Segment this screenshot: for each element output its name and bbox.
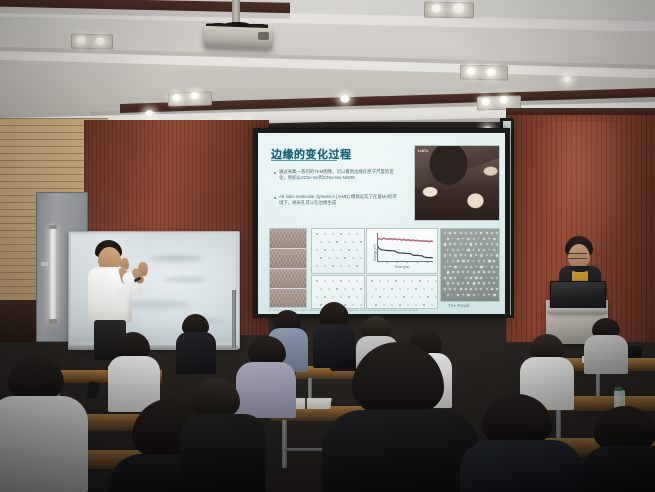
lattice-atom-dot (496, 288, 498, 290)
lattice-atom-dot (449, 243, 451, 245)
schematic-atom-dot (336, 241, 338, 243)
schematic-atom-dot (348, 265, 350, 267)
schematic-atom-dot (423, 304, 425, 306)
water-bottle-cap (615, 387, 622, 391)
schematic-atom-dot (332, 233, 334, 235)
schematic-atom-dot (340, 265, 342, 267)
schematic-atom-dot (316, 296, 318, 298)
schematic-atom-dot (360, 288, 362, 290)
lattice-atom-dot (475, 232, 477, 234)
lattice-atom-dot (447, 271, 449, 273)
downlight-2b (452, 3, 466, 14)
presentation-laptop-base[interactable] (547, 308, 608, 314)
lattice-atom-dot (475, 254, 477, 256)
lattice-atom-dot (491, 277, 493, 279)
lattice-atom-dot (496, 277, 498, 279)
energy-time-chart: Time (ps) Energy (eV) (366, 228, 438, 274)
lattice-atom-dot (499, 271, 500, 273)
strip-cell-1 (270, 229, 306, 249)
chart-tick (427, 261, 428, 263)
tem-time-label: t=87s (418, 148, 428, 153)
schematic-atom-dot (383, 288, 385, 290)
lattice-atom-dot (467, 294, 469, 296)
lattice-atom-dot (462, 238, 464, 240)
lattice-atom-dot (462, 249, 464, 251)
schematic-atom-dot (387, 280, 389, 282)
schematic-atom-dot (391, 288, 393, 290)
schematic-atom-dot (352, 241, 354, 243)
wall-tube-light (50, 228, 56, 320)
lattice-atom-dot (470, 254, 472, 256)
lattice-atom-dot (465, 288, 467, 290)
lattice-atom-dot (473, 271, 475, 273)
desk-leg (282, 420, 287, 468)
bullet-dot-icon (274, 197, 276, 199)
audience-torso (460, 440, 582, 492)
lattice-atom-dot (486, 288, 488, 290)
lattice-atom-dot (496, 266, 498, 268)
schematic-atom-dot (316, 265, 318, 267)
atomic-structure-panel-c (366, 275, 438, 309)
lattice-atom-dot (488, 282, 490, 284)
slide-bullet-1: 通过采集一系列的TEM图像，可以看到边缘在原子尺度的变化，例如从ZZSe-Se到… (274, 169, 399, 181)
schematic-atom-dot (328, 257, 330, 259)
audience-member-foreground (586, 406, 655, 492)
lattice-atom-dot (473, 260, 475, 262)
lattice-atom-dot (467, 260, 469, 262)
lattice-atom-dot (491, 232, 493, 234)
lattice-atom-dot (460, 243, 462, 245)
schematic-atom-dot (356, 265, 358, 267)
schematic-atom-dot (371, 296, 373, 298)
lattice-atom-dot (452, 282, 454, 284)
schematic-atom-dot (411, 296, 413, 298)
schematic-atom-dot (316, 280, 318, 282)
schematic-atom-dot (332, 280, 334, 282)
lattice-atom-dot (447, 260, 449, 262)
audience-hair (482, 394, 552, 446)
audience-member-foreground (186, 378, 256, 492)
lattice-atom-dot (449, 277, 451, 279)
lattice-atom-dot (465, 266, 467, 268)
schematic-atom-dot (352, 257, 354, 259)
lattice-atom-dot (457, 238, 459, 240)
schematic-atom-dot (320, 241, 322, 243)
schematic-atom-dot (379, 296, 381, 298)
schematic-atom-dot (356, 233, 358, 235)
schematic-atom-dot (435, 296, 437, 298)
downlight-4a (172, 94, 182, 102)
lattice-atom-dot (447, 294, 449, 296)
schematic-atom-dot (348, 280, 350, 282)
lattice-atom-dot (457, 282, 459, 284)
schematic-atom-dot (383, 304, 385, 306)
lattice-atom-dot (454, 277, 456, 279)
downlight-8 (563, 76, 572, 83)
lattice-atom-dot (478, 249, 480, 251)
schematic-atom-dot (427, 296, 429, 298)
lattice-atom-dot (462, 294, 464, 296)
schematic-atom-dot (399, 288, 401, 290)
lattice-atom-dot (467, 282, 469, 284)
door-handle[interactable] (41, 262, 48, 266)
lattice-atom-dot (483, 238, 485, 240)
audience-member-foreground (330, 342, 464, 492)
lattice-atom-dot (483, 271, 485, 273)
audience-torso (176, 332, 216, 374)
schematic-atom-dot (395, 296, 397, 298)
chart-tick (407, 261, 408, 263)
lattice-atom-dot (452, 238, 454, 240)
schematic-atom-dot (348, 296, 350, 298)
schematic-atom-dot (344, 288, 346, 290)
schematic-atom-dot (375, 288, 377, 290)
schematic-atom-dot (360, 257, 362, 259)
schematic-atom-dot (324, 280, 326, 282)
lattice-atom-dot (478, 238, 480, 240)
chart-y-axis-label: Energy (eV) (373, 244, 377, 261)
lattice-atom-dot (452, 294, 454, 296)
lattice-atom-dot (467, 249, 469, 251)
lattice-atom-dot (457, 294, 459, 296)
audience-member (584, 318, 628, 374)
schematic-atom-dot (332, 296, 334, 298)
chart-svg (377, 233, 433, 261)
publisher-logo: The Royal (448, 303, 470, 308)
lattice-atom-dot (478, 271, 480, 273)
lattice-atom-dot (457, 260, 459, 262)
lattice-atom-dot (470, 243, 472, 245)
schematic-atom-dot (395, 280, 397, 282)
audience-member-foreground (0, 356, 88, 492)
lattice-atom-dot (493, 260, 495, 262)
tube-light-cap-top (49, 225, 57, 229)
lattice-atom-dot (480, 266, 482, 268)
lattice-atom-dot (444, 288, 446, 290)
bullet-text-2: Ab initio molecular dynamics (AIMD) 模拟证实… (279, 194, 399, 206)
schematic-atom-dot (320, 257, 322, 259)
schematic-atom-dot (399, 304, 401, 306)
schematic-atom-dot (328, 241, 330, 243)
operator-glasses (567, 253, 587, 259)
lattice-atom-dot (465, 277, 467, 279)
tube-light-cap-bottom (49, 319, 57, 324)
lattice-atom-dot (496, 232, 498, 234)
lattice-atom-dot (449, 288, 451, 290)
lattice-atom-dot (465, 232, 467, 234)
schematic-atom-dot (360, 304, 362, 306)
lattice-atom-dot (473, 282, 475, 284)
slide-title-underline (271, 160, 337, 161)
audience-member (176, 314, 216, 374)
lattice-atom-dot (499, 260, 500, 262)
lattice-atom-dot (491, 266, 493, 268)
lattice-atom-dot (444, 243, 446, 245)
schematic-atom-dot (415, 304, 417, 306)
schematic-atom-dot (419, 280, 421, 282)
schematic-atom-dot (316, 249, 318, 251)
schematic-atom-dot (340, 280, 342, 282)
lattice-atom-dot (499, 238, 500, 240)
lattice-atom-dot (486, 277, 488, 279)
lattice-atom-dot (493, 249, 495, 251)
schematic-atom-dot (348, 233, 350, 235)
lattice-atom-dot (467, 271, 469, 273)
lattice-atom-dot (488, 260, 490, 262)
lattice-atom-dot (457, 271, 459, 273)
schematic-atom-dot (344, 257, 346, 259)
schematic-atom-dot (316, 233, 318, 235)
schematic-atom-dot (340, 296, 342, 298)
schematic-atom-dot (336, 288, 338, 290)
lattice-atom-dot (449, 266, 451, 268)
lattice-atom-dot (454, 266, 456, 268)
lattice-atom-dot (473, 238, 475, 240)
tem-strip-panel (269, 228, 307, 308)
lattice-atom-dot (483, 294, 485, 296)
lattice-atom-dot (470, 232, 472, 234)
lattice-atom-dot (493, 238, 495, 240)
downlight-1a (76, 36, 87, 45)
chart-tick (417, 261, 418, 263)
strip-cell-2 (270, 249, 306, 269)
lattice-atom-dot (491, 288, 493, 290)
schematic-atom-dot (375, 304, 377, 306)
lattice-atom-dot (470, 266, 472, 268)
lattice-atom-dot (473, 294, 475, 296)
lattice-atom-dot (444, 266, 446, 268)
schematic-atom-dot (431, 288, 433, 290)
schematic-atom-dot (360, 241, 362, 243)
schematic-atom-dot (352, 288, 354, 290)
lattice-atom-dot (465, 254, 467, 256)
audience-torso (0, 396, 88, 492)
schematic-atom-dot (356, 296, 358, 298)
lattice-atom-dot (447, 238, 449, 240)
lattice-atom-dot (493, 282, 495, 284)
schematic-atom-dot (324, 265, 326, 267)
lattice-atom-dot (475, 243, 477, 245)
chart-y-axis (377, 233, 378, 261)
schematic-atom-dot (332, 265, 334, 267)
desk-leg (596, 370, 600, 398)
tem-micrograph-image: t=87s (414, 145, 500, 221)
lattice-atom-dot (480, 288, 482, 290)
lattice-atom-dot (478, 294, 480, 296)
bullet-dot-icon (274, 172, 276, 174)
chart-x-axis (377, 261, 433, 262)
lattice-atom-dot (444, 254, 446, 256)
schematic-atom-dot (391, 304, 393, 306)
audience-torso (322, 410, 480, 492)
schematic-atom-dot (324, 233, 326, 235)
lattice-atom-dot (449, 254, 451, 256)
atomic-lattice-image (440, 228, 500, 302)
lattice-atom-dot (452, 271, 454, 273)
lattice-atom-dot (444, 232, 446, 234)
slide-bullet-2: Ab initio molecular dynamics (AIMD) 模拟证实… (274, 194, 399, 206)
schematic-atom-dot (344, 241, 346, 243)
lattice-atom-dot (475, 266, 477, 268)
strip-cell-4 (270, 289, 306, 308)
chart-x-axis-label: Time (ps) (367, 265, 437, 269)
schematic-atom-dot (320, 288, 322, 290)
lattice-atom-dot (478, 260, 480, 262)
lattice-atom-dot (486, 232, 488, 234)
schematic-atom-dot (371, 280, 373, 282)
downlight-4b (190, 92, 200, 100)
schematic-atom-dot (324, 296, 326, 298)
schematic-atom-dot (332, 249, 334, 251)
lattice-atom-dot (488, 249, 490, 251)
lattice-atom-dot (457, 249, 459, 251)
schematic-atom-dot (423, 288, 425, 290)
downlight-5a (481, 98, 491, 106)
lattice-atom-dot (462, 282, 464, 284)
audience-torso (582, 446, 655, 492)
chart-tick (387, 261, 388, 263)
atomic-structure-panel-a (311, 228, 365, 274)
lattice-atom-dot (454, 243, 456, 245)
audience-torso (584, 335, 628, 374)
lattice-atom-dot (499, 282, 500, 284)
lattice-atom-dot (488, 238, 490, 240)
downlight-3a (466, 67, 477, 76)
lattice-atom-dot (496, 254, 498, 256)
whiteboard-smudge-2 (163, 277, 207, 282)
lattice-atom-dot (486, 266, 488, 268)
schematic-atom-dot (348, 249, 350, 251)
lattice-atom-dot (491, 243, 493, 245)
lattice-atom-dot (460, 232, 462, 234)
downlight-7 (145, 110, 154, 117)
lattice-atom-dot (452, 249, 454, 251)
schematic-atom-dot (419, 296, 421, 298)
lattice-atom-dot (454, 288, 456, 290)
lattice-atom-dot (475, 288, 477, 290)
lattice-atom-dot (483, 282, 485, 284)
lattice-atom-dot (465, 243, 467, 245)
downlight-5b (499, 96, 509, 104)
schematic-atom-dot (356, 280, 358, 282)
lattice-atom-dot (488, 294, 490, 296)
lattice-atom-dot (493, 271, 495, 273)
mobile-phone[interactable] (86, 381, 99, 399)
schematic-atom-dot (403, 296, 405, 298)
bullet-text-1: 通过采集一系列的TEM图像，可以看到边缘在原子尺度的变化，例如从ZZSe-Se到… (279, 169, 399, 181)
lattice-atom-dot (499, 294, 500, 296)
audience-torso (180, 414, 266, 492)
audience-hair (352, 342, 444, 416)
downlight-2a (431, 4, 443, 13)
lattice-atom-dot (499, 249, 500, 251)
lattice-atom-dot (480, 243, 482, 245)
chart-plot-area (377, 233, 433, 261)
lattice-atom-dot (460, 288, 462, 290)
lattice-atom-dot (486, 254, 488, 256)
projector-lens (258, 32, 269, 40)
schematic-atom-dot (379, 280, 381, 282)
lecture-room-photo: 边缘的变化过程 通过采集一系列的TEM图像，可以看到边缘在原子尺度的变化，例如从… (0, 0, 655, 492)
schematic-atom-dot (411, 280, 413, 282)
schematic-atom-dot (387, 296, 389, 298)
lattice-atom-dot (462, 271, 464, 273)
lattice-atom-dot (449, 232, 451, 234)
lattice-atom-dot (488, 271, 490, 273)
lattice-atom-dot (491, 254, 493, 256)
schematic-atom-dot (403, 280, 405, 282)
lattice-atom-dot (447, 249, 449, 251)
right-wall-top-trim (506, 108, 655, 115)
schematic-atom-dot (328, 288, 330, 290)
lattice-atom-dot (493, 294, 495, 296)
audience-hair (8, 356, 64, 400)
lattice-atom-dot (470, 277, 472, 279)
lattice-atom-dot (483, 260, 485, 262)
lattice-atom-dot (454, 254, 456, 256)
lattice-atom-dot (447, 282, 449, 284)
lattice-atom-dot (470, 288, 472, 290)
lattice-atom-dot (496, 243, 498, 245)
lattice-atom-dot (473, 249, 475, 251)
lattice-atom-dot (462, 260, 464, 262)
chart-tick (397, 261, 398, 263)
lattice-atom-dot (475, 277, 477, 279)
schematic-atom-dot (435, 280, 437, 282)
schematic-atom-dot (356, 249, 358, 251)
lattice-atom-dot (478, 282, 480, 284)
lattice-atom-dot (480, 254, 482, 256)
schematic-atom-dot (407, 288, 409, 290)
downlight-6 (340, 95, 350, 103)
lattice-atom-dot (486, 243, 488, 245)
slide-content: 边缘的变化过程 通过采集一系列的TEM图像，可以看到边缘在原子尺度的变化，例如从… (258, 133, 505, 314)
downlight-3b (486, 68, 497, 77)
schematic-atom-dot (427, 280, 429, 282)
audience-hair (192, 378, 240, 418)
lattice-atom-dot (444, 277, 446, 279)
lattice-atom-dot (483, 249, 485, 251)
lattice-atom-dot (454, 232, 456, 234)
lattice-atom-dot (480, 232, 482, 234)
schematic-atom-dot (415, 288, 417, 290)
schematic-atom-dot (336, 257, 338, 259)
schematic-atom-dot (324, 249, 326, 251)
schematic-atom-dot (431, 304, 433, 306)
lattice-atom-dot (460, 277, 462, 279)
lattice-atom-dot (460, 254, 462, 256)
strip-cell-3 (270, 269, 306, 289)
schematic-atom-dot (407, 304, 409, 306)
notebook-spine (305, 398, 307, 409)
downlight-1b (95, 37, 106, 46)
schematic-atom-dot (340, 233, 342, 235)
lattice-atom-dot (460, 266, 462, 268)
schematic-atom-dot (340, 249, 342, 251)
lattice-atom-dot (467, 238, 469, 240)
audience-member-foreground (466, 394, 570, 492)
lattice-atom-dot (452, 260, 454, 262)
lattice-atom-dot (480, 277, 482, 279)
